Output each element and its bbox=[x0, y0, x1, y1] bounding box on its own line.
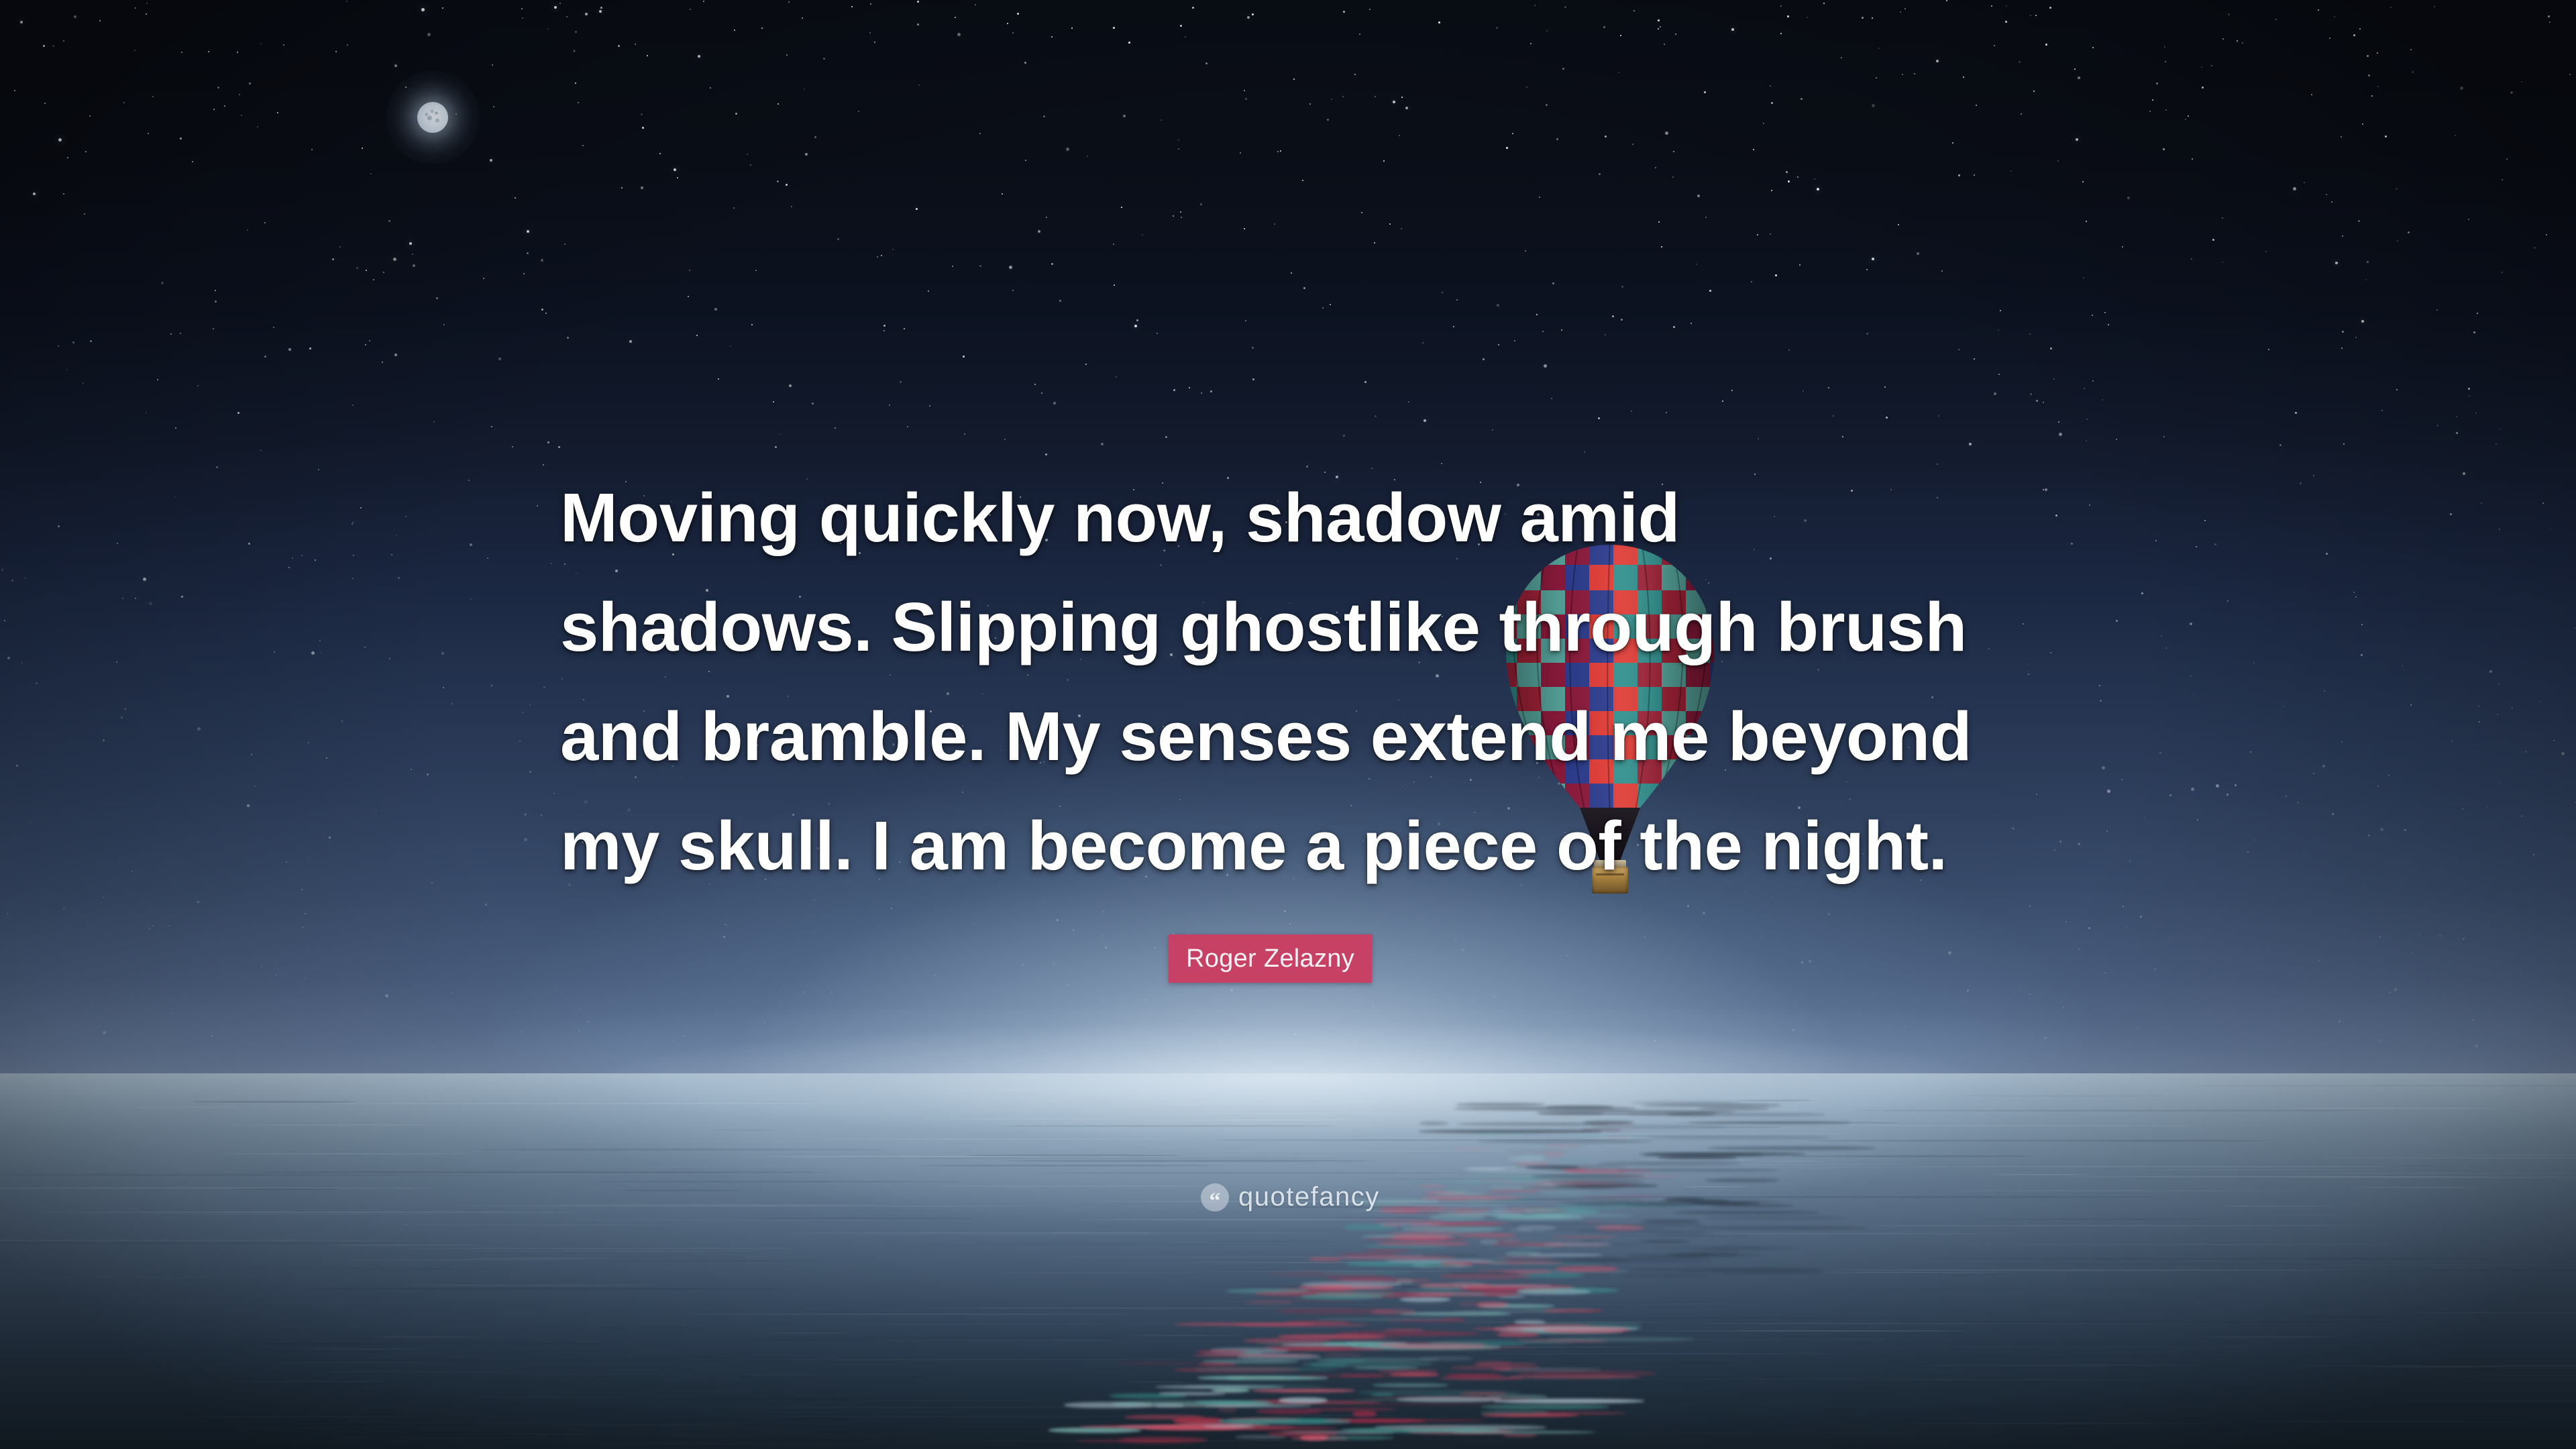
quote-line-3: and bramble. My senses extend me beyond bbox=[560, 682, 2049, 791]
watermark-brand: quotefancy bbox=[1238, 1182, 1380, 1212]
water-surface bbox=[0, 1073, 2576, 1449]
quote-line-1: Moving quickly now, shadow amid bbox=[560, 463, 2049, 572]
quote-text: Moving quickly now, shadow amid shadows.… bbox=[560, 463, 2049, 900]
author-name: Roger Zelazny bbox=[1186, 945, 1354, 973]
moon-icon bbox=[417, 102, 448, 133]
author-badge[interactable]: Roger Zelazny bbox=[1169, 934, 1372, 983]
quote-line-4: my skull. I am become a piece of the nig… bbox=[560, 791, 2049, 900]
balloon-reflection bbox=[0, 1073, 2576, 1449]
quote-mark-glyph: “ bbox=[1210, 1190, 1221, 1213]
quote-mark-icon: “ bbox=[1201, 1183, 1229, 1212]
quote-line-2: shadows. Slipping ghostlike through brus… bbox=[560, 572, 2049, 682]
water-ripples bbox=[0, 1073, 2576, 1449]
quotefancy-watermark[interactable]: “ quotefancy bbox=[1201, 1182, 1380, 1212]
quote-poster: Moving quickly now, shadow amid shadows.… bbox=[0, 0, 2576, 1449]
